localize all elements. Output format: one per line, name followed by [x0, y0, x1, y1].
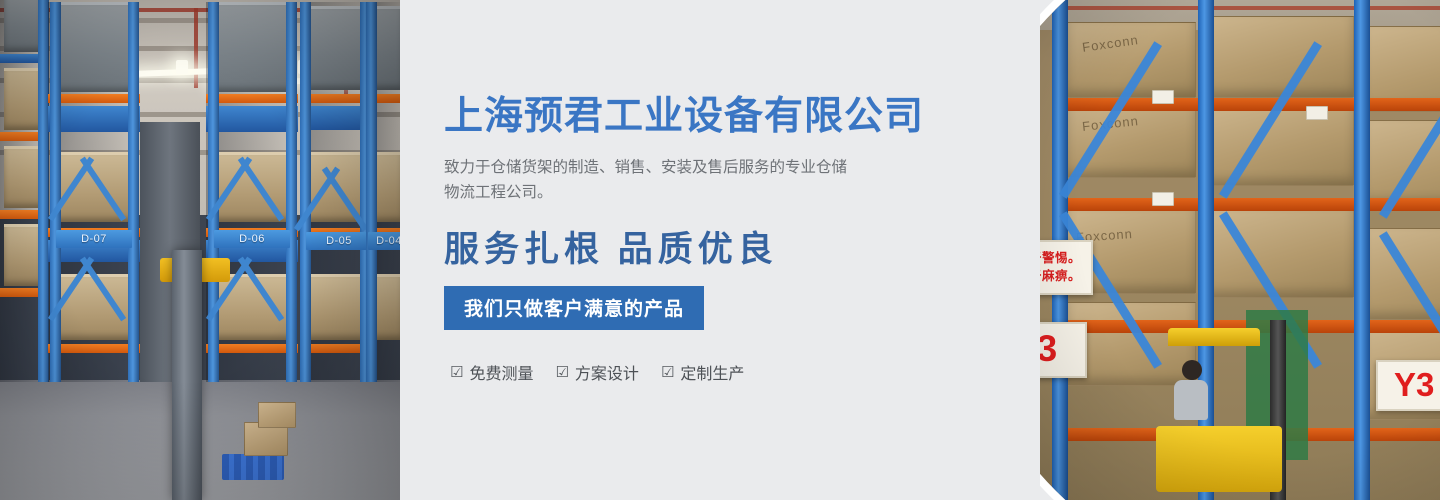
- hero-banner: D-07 D-06: [0, 0, 1440, 500]
- photo-vignette: [1040, 0, 1440, 500]
- aisle-label: D-07: [56, 230, 132, 248]
- copy-block: 上海预君工业设备有限公司 致力于仓储货架的制造、销售、安装及售后服务的专业仓储物…: [444, 96, 1004, 384]
- feature-item-free-measure: ☑ 免费测量: [450, 360, 533, 384]
- center-text-panel: 上海预君工业设备有限公司 致力于仓储货架的制造、销售、安装及售后服务的专业仓储物…: [400, 0, 1040, 500]
- right-warehouse-photo: Foxconn Foxconn Foxconn Foxconn: [1040, 0, 1440, 500]
- aisle-sign-y3-edge: Y3: [1376, 360, 1440, 411]
- rack-column: [366, 2, 400, 382]
- rack-column: [206, 2, 298, 382]
- feature-label: 方案设计: [575, 360, 639, 384]
- company-subtitle: 致力于仓储货架的制造、销售、安装及售后服务的专业仓储物流工程公司。: [444, 155, 862, 205]
- check-icon: ☑: [661, 365, 674, 380]
- company-title: 上海预君工业设备有限公司: [444, 96, 1004, 139]
- feature-item-plan-design: ☑ 方案设计: [555, 360, 638, 384]
- rack-column: [0, 0, 46, 382]
- feature-item-custom-production: ☑ 定制生产: [661, 360, 744, 384]
- ceiling-pipe: [194, 8, 198, 88]
- check-icon: ☑: [555, 365, 568, 380]
- right-photo-wrap: Foxconn Foxconn Foxconn Foxconn: [1040, 0, 1440, 500]
- slogan: 服务扎根 品质优良: [444, 221, 1004, 272]
- feature-label: 定制生产: [680, 360, 744, 384]
- feature-label: 免费测量: [469, 360, 533, 384]
- left-warehouse-photo: D-07 D-06: [0, 0, 400, 500]
- blue-pallet: [222, 454, 284, 480]
- feature-list: ☑ 免费测量 ☑ 方案设计 ☑ 定制生产: [450, 360, 1004, 384]
- rack-column: [48, 2, 140, 382]
- cardboard-box: [258, 402, 296, 428]
- stacker-crane-mast: [172, 250, 202, 500]
- rack-column: [300, 2, 372, 382]
- aisle-label: D-05: [306, 232, 372, 250]
- promise-badge: 我们只做客户满意的产品: [444, 286, 704, 330]
- check-icon: ☑: [450, 365, 463, 380]
- aisle-label: D-06: [214, 230, 290, 248]
- aisle-label: D-04: [368, 232, 400, 250]
- ceiling-light: [176, 60, 188, 74]
